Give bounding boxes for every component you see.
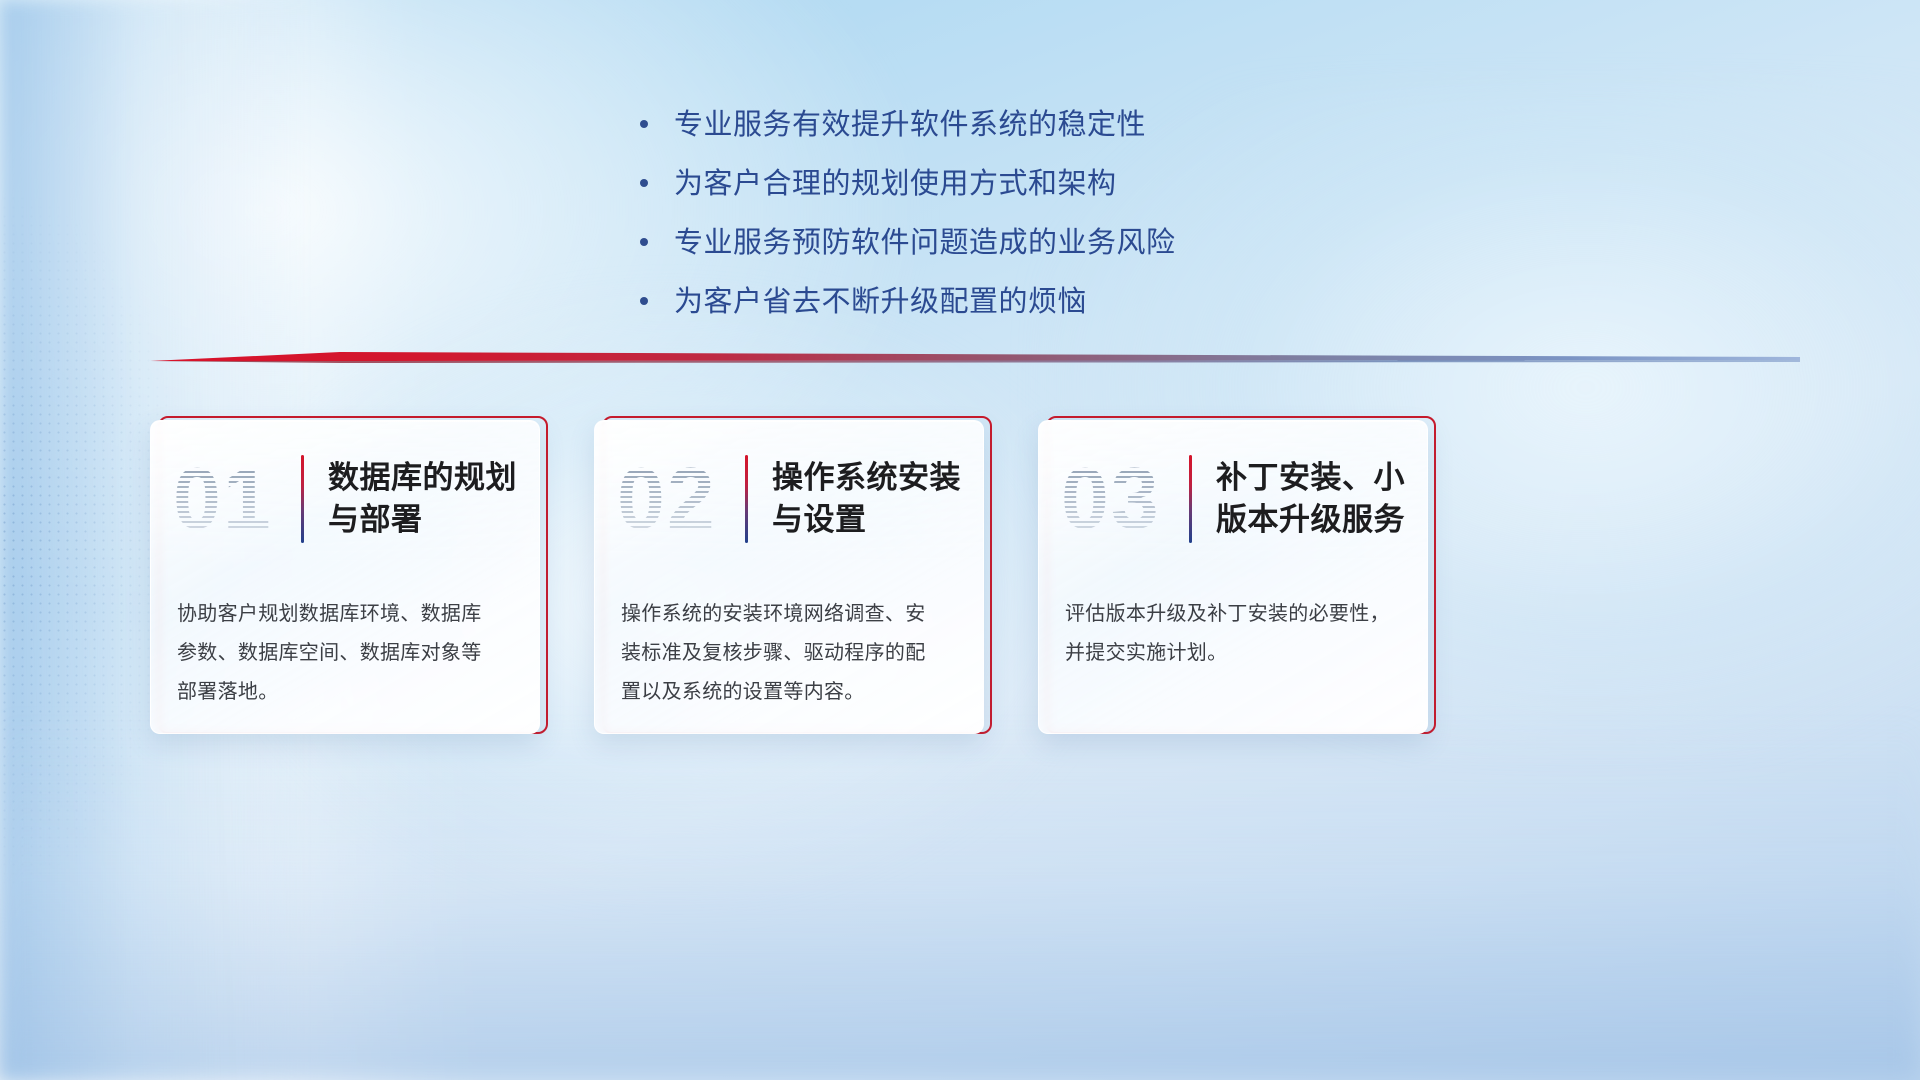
bullet-dot-icon: [640, 179, 648, 187]
card-title-line2: 版本升级服务: [1216, 499, 1405, 541]
list-item: 专业服务有效提升软件系统的稳定性: [640, 96, 1280, 155]
bullet-dot-icon: [640, 238, 648, 246]
card-body-line1: 评估版本升级及补丁安装的必要性，: [1065, 595, 1401, 634]
bullet-text: 专业服务预防软件问题造成的业务风险: [674, 224, 1176, 263]
card-number-watermark: 03: [1061, 451, 1181, 547]
card-body: 协助客户规划数据库环境、数据库 参数、数据库空间、数据库对象等 部署落地。: [151, 577, 539, 712]
card-body-line1: 操作系统的安装环境网络调查、安: [621, 595, 957, 634]
service-card-02[interactable]: 02 操作系统安装 与设置 操作系统的安装环境网络调查、安 装标准及复核步骤、驱…: [594, 420, 992, 740]
card-number-text: 02: [617, 451, 737, 547]
card-accent-bar-icon: [1189, 455, 1192, 543]
card-header: 02 操作系统安装 与设置: [595, 421, 983, 577]
bullet-text: 为客户合理的规划使用方式和架构: [674, 165, 1117, 204]
card-title-line1: 补丁安装、小: [1216, 457, 1405, 499]
card-number-watermark: 02: [617, 451, 737, 547]
card-body-line2: 装标准及复核步骤、驱动程序的配: [621, 634, 957, 673]
card-body-line1: 协助客户规划数据库环境、数据库: [177, 595, 513, 634]
card-title-line2: 与设置: [772, 499, 961, 541]
bullet-text: 专业服务有效提升软件系统的稳定性: [674, 106, 1146, 145]
tapered-rule-icon: [150, 348, 1800, 370]
card-header: 03 补丁安装、小 版本升级服务: [1039, 421, 1427, 577]
card-title-line2: 与部署: [328, 499, 517, 541]
card-number-text: 01: [173, 451, 293, 547]
list-item: 为客户省去不断升级配置的烦恼: [640, 273, 1280, 332]
card-surface: 02 操作系统安装 与设置 操作系统的安装环境网络调查、安 装标准及复核步骤、驱…: [594, 420, 984, 734]
card-surface: 03 补丁安装、小 版本升级服务 评估版本升级及补丁安装的必要性， 并提交实施计…: [1038, 420, 1428, 734]
card-title: 补丁安装、小 版本升级服务: [1216, 457, 1405, 540]
card-title: 操作系统安装 与设置: [772, 457, 961, 540]
list-item: 为客户合理的规划使用方式和架构: [640, 155, 1280, 214]
section-divider: [150, 348, 1800, 370]
card-title: 数据库的规划 与部署: [328, 457, 517, 540]
card-number-text: 03: [1061, 451, 1181, 547]
bullet-text: 为客户省去不断升级配置的烦恼: [674, 283, 1087, 322]
card-body-line2: 参数、数据库空间、数据库对象等: [177, 634, 513, 673]
card-body: 操作系统的安装环境网络调查、安 装标准及复核步骤、驱动程序的配 置以及系统的设置…: [595, 577, 983, 712]
service-card-03[interactable]: 03 补丁安装、小 版本升级服务 评估版本升级及补丁安装的必要性， 并提交实施计…: [1038, 420, 1436, 740]
card-header: 01 数据库的规划 与部署: [151, 421, 539, 577]
list-item: 专业服务预防软件问题造成的业务风险: [640, 214, 1280, 273]
benefits-bullet-list: 专业服务有效提升软件系统的稳定性 为客户合理的规划使用方式和架构 专业服务预防软…: [0, 96, 1920, 333]
bullet-dot-icon: [640, 120, 648, 128]
service-card-list: 01 数据库的规划 与部署 协助客户规划数据库环境、数据库 参数、数据库空间、数…: [150, 420, 1436, 740]
service-card-01[interactable]: 01 数据库的规划 与部署 协助客户规划数据库环境、数据库 参数、数据库空间、数…: [150, 420, 548, 740]
card-accent-bar-icon: [301, 455, 304, 543]
card-body-line3: 置以及系统的设置等内容。: [621, 673, 957, 712]
bullet-dot-icon: [640, 297, 648, 305]
card-body: 评估版本升级及补丁安装的必要性， 并提交实施计划。: [1039, 577, 1427, 673]
card-number-watermark: 01: [173, 451, 293, 547]
card-body-line2: 并提交实施计划。: [1065, 634, 1401, 673]
card-accent-bar-icon: [745, 455, 748, 543]
card-body-line3: 部署落地。: [177, 673, 513, 712]
card-surface: 01 数据库的规划 与部署 协助客户规划数据库环境、数据库 参数、数据库空间、数…: [150, 420, 540, 734]
background-tint-bottom: [0, 713, 1920, 1080]
card-title-line1: 操作系统安装: [772, 457, 961, 499]
card-title-line1: 数据库的规划: [328, 457, 517, 499]
